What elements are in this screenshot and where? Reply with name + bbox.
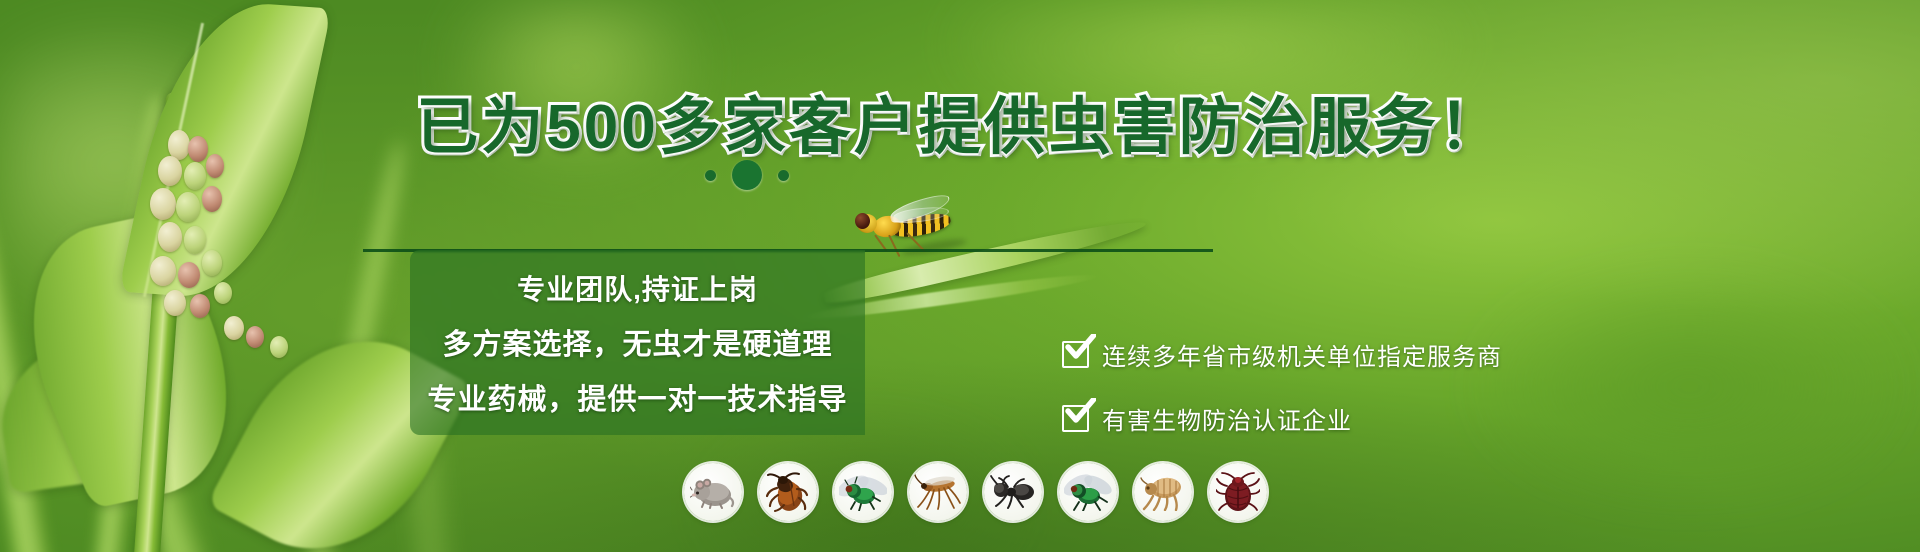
list-item-label: 有害生物防治认证企业 xyxy=(1102,401,1352,436)
hoverfly-icon xyxy=(845,196,965,252)
bedbug-icon xyxy=(1209,463,1267,521)
mouse-icon xyxy=(684,463,742,521)
slogan-line-1: 专业团队,持证上岗 xyxy=(517,268,758,308)
list-item: 有害生物防治认证企业 xyxy=(1062,401,1502,436)
flower-bud-cluster xyxy=(150,130,340,390)
checkbox-checked-icon xyxy=(1062,341,1089,368)
list-item: 连续多年省市级机关单位指定服务商 xyxy=(1062,337,1502,372)
pest-control-hero-banner: 已为500多家客户提供虫害防治服务！ 专业团队,持证上岗 多方案选择，无虫才是硬… xyxy=(0,0,1920,552)
flea-icon xyxy=(1134,463,1192,521)
decorative-dots xyxy=(705,160,789,190)
slogan-panel-text: 专业团队,持证上岗 多方案选择，无虫才是硬道理 专业药械，提供一对一技术指导 xyxy=(410,250,865,435)
bottlefly-icon xyxy=(834,463,892,521)
cockroach-icon xyxy=(759,463,817,521)
mosquito-icon xyxy=(909,463,967,521)
headline-text: 已为500多家客户提供虫害防治服务！ xyxy=(416,93,1503,162)
page-title: 已为500多家客户提供虫害防治服务！ xyxy=(0,76,1920,166)
housefly-icon xyxy=(1059,463,1117,521)
slogan-line-3: 专业药械，提供一对一技术指导 xyxy=(427,376,847,418)
dot-small-left-icon xyxy=(705,170,716,181)
list-item-label: 连续多年省市级机关单位指定服务商 xyxy=(1102,337,1502,372)
dot-small-right-icon xyxy=(778,170,789,181)
checkbox-checked-icon xyxy=(1062,405,1089,432)
pest-icon-row xyxy=(684,463,1267,521)
ant-icon xyxy=(984,463,1042,521)
slogan-line-2: 多方案选择，无虫才是硬道理 xyxy=(442,321,832,363)
dot-large-icon xyxy=(732,160,762,190)
credentials-checklist: 连续多年省市级机关单位指定服务商 有害生物防治认证企业 xyxy=(1062,337,1502,436)
